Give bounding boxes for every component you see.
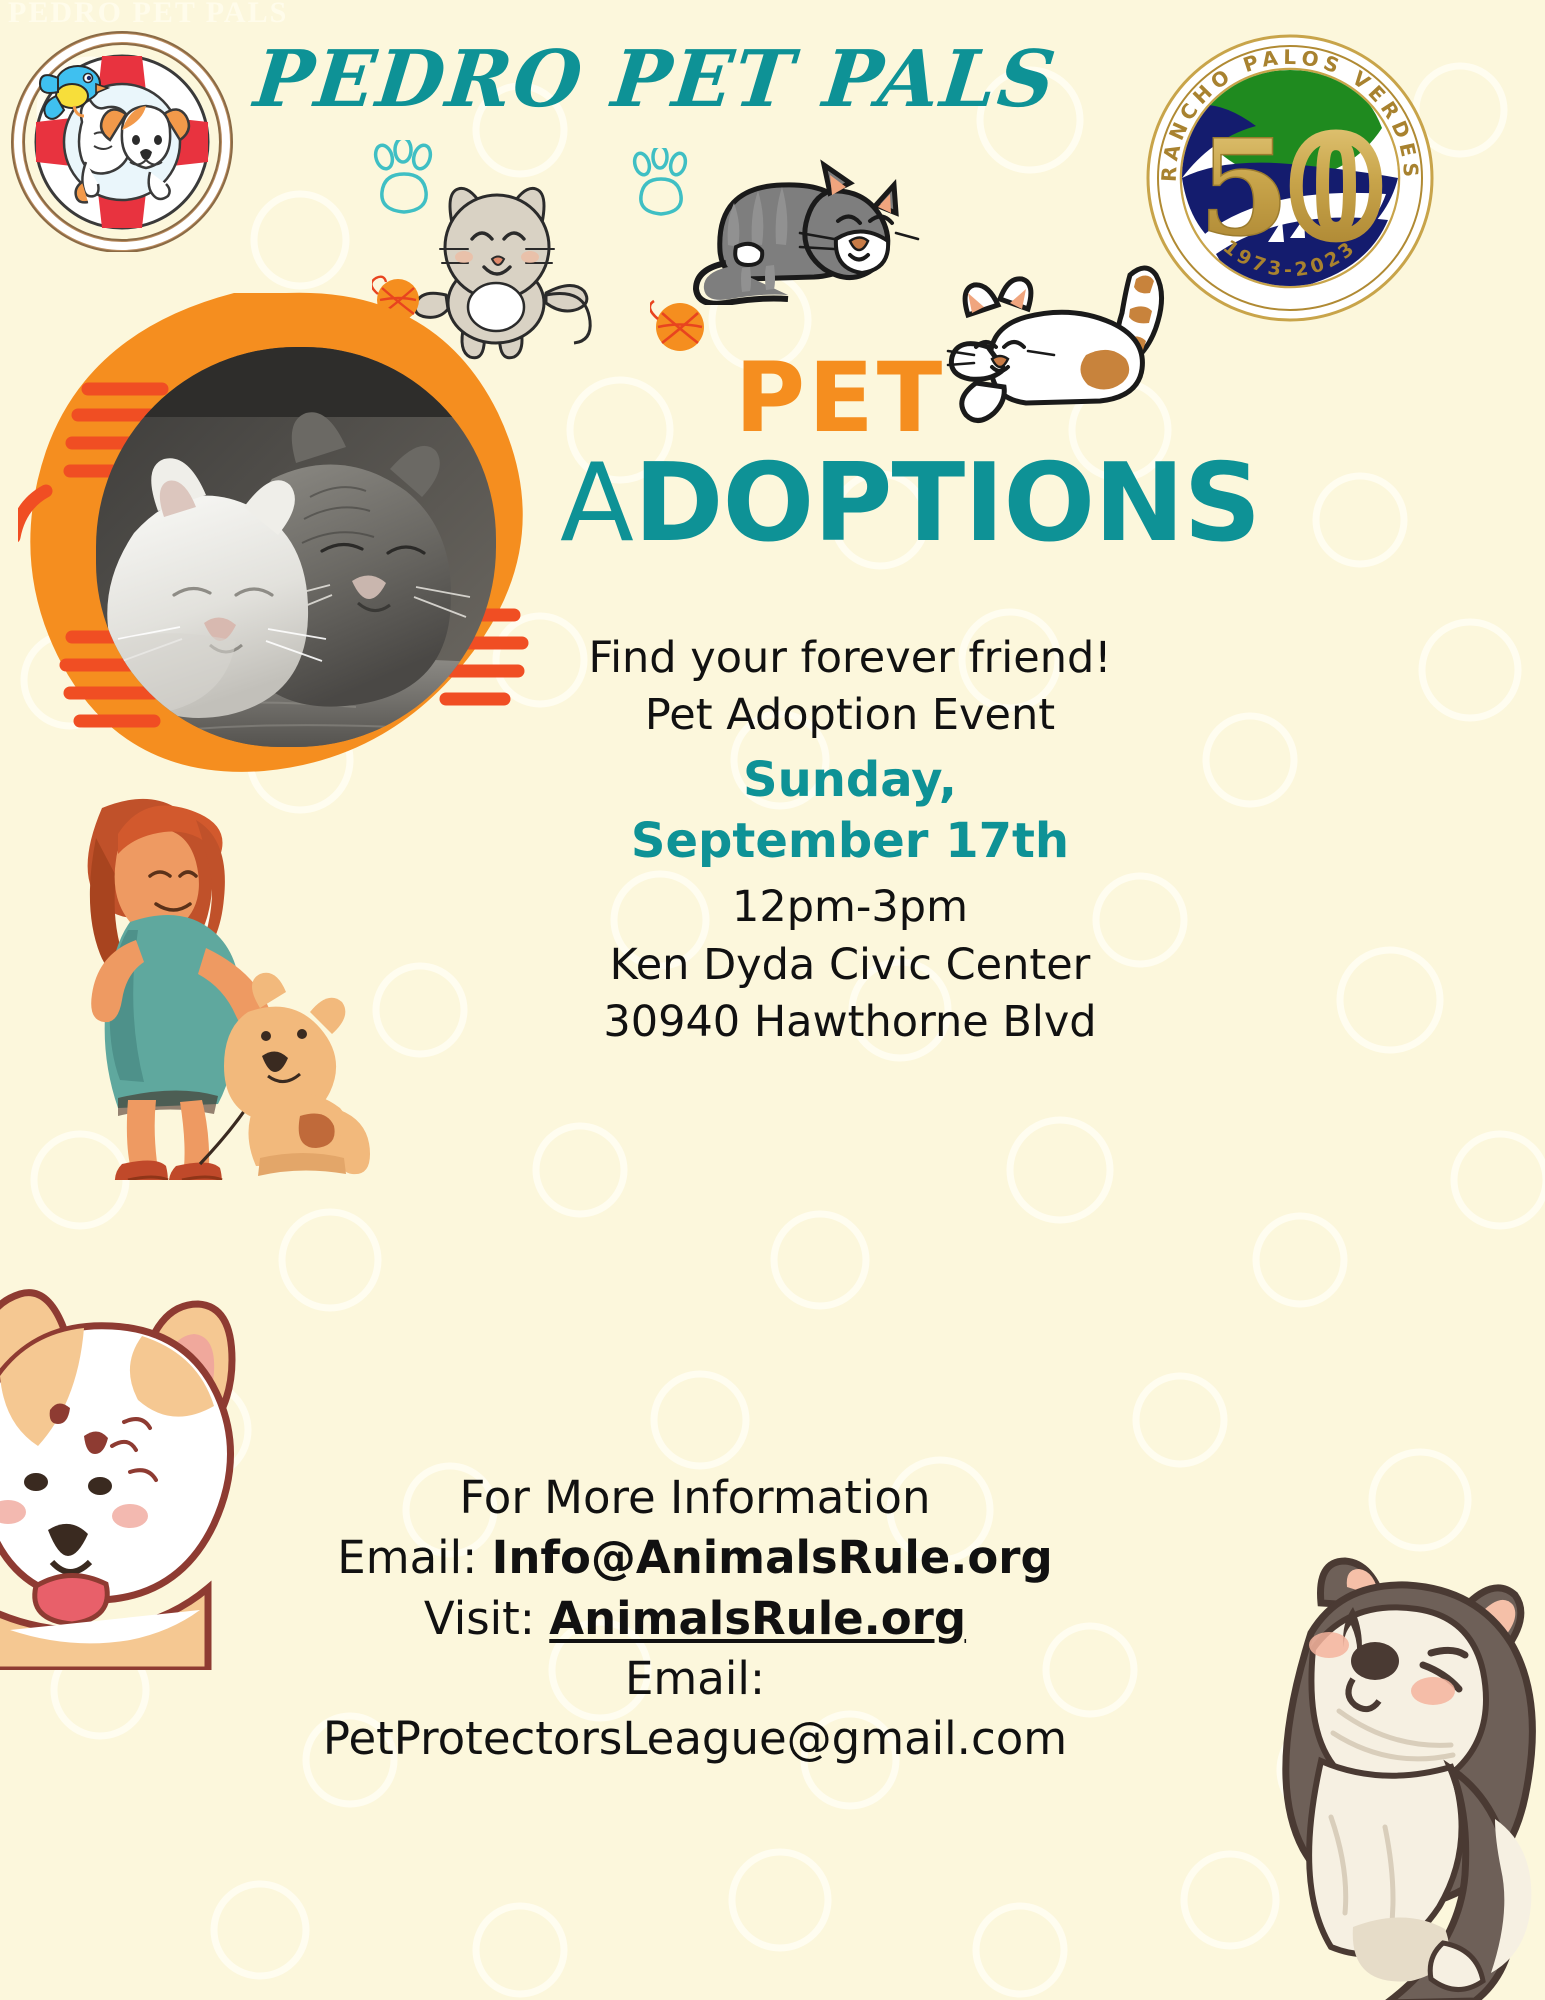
svg-text:0: 0 [1290, 111, 1382, 266]
rpv-50th-anniversary-badge: 5 0 RANCHO PALOS VERDES 1973-2023 [1140, 28, 1440, 328]
headline-block: PET ADOPTIONS [560, 350, 1120, 558]
contact-email2-label: Email: [120, 1649, 1270, 1709]
paw-print-icon [628, 148, 694, 220]
svg-text:5: 5 [1198, 111, 1290, 266]
headline-adoptions: ADOPTIONS [560, 450, 1120, 558]
woman-petting-dog-illustration [10, 780, 390, 1180]
contact-email-line: Email: Info@AnimalsRule.org [120, 1528, 1270, 1588]
event-date: September 17th [560, 811, 1140, 871]
headline-pet: PET [560, 350, 1120, 446]
husky-illustration [1255, 1555, 1545, 2000]
event-name: Pet Adoption Event [560, 687, 1140, 744]
headline-adoptions-thin: A [560, 441, 634, 566]
flyer-page: PEDRO PET PALS [0, 0, 1545, 2000]
headline-adoptions-bold: DOPTIONS [634, 441, 1260, 566]
brand-title: PEDRO PET PALS [250, 34, 1061, 125]
event-address: 30940 Hawthorne Blvd [560, 994, 1140, 1051]
website-link[interactable]: AnimalsRule.org [549, 1592, 966, 1645]
contact-visit-line: Visit: AnimalsRule.org [120, 1589, 1270, 1649]
cats-photo-frame [18, 285, 548, 815]
contact-email2-value: PetProtectorsLeague@gmail.com [120, 1709, 1270, 1769]
email-label: Email: [337, 1531, 491, 1584]
sleeping-cat-illustration [690, 155, 920, 305]
event-day: Sunday, [560, 750, 1140, 810]
event-details-block: Find your forever friend! Pet Adoption E… [560, 630, 1140, 1051]
email-value: Info@AnimalsRule.org [492, 1531, 1053, 1584]
pedro-pet-pals-logo [10, 22, 235, 252]
contact-block: For More Information Email: Info@Animals… [120, 1468, 1270, 1769]
event-time: 12pm-3pm [560, 879, 1140, 936]
visit-label: Visit: [424, 1592, 549, 1645]
sleeping-cats-photo [96, 347, 496, 747]
contact-heading: For More Information [120, 1468, 1270, 1528]
event-venue: Ken Dyda Civic Center [560, 937, 1140, 994]
tagline: Find your forever friend! [560, 630, 1140, 687]
